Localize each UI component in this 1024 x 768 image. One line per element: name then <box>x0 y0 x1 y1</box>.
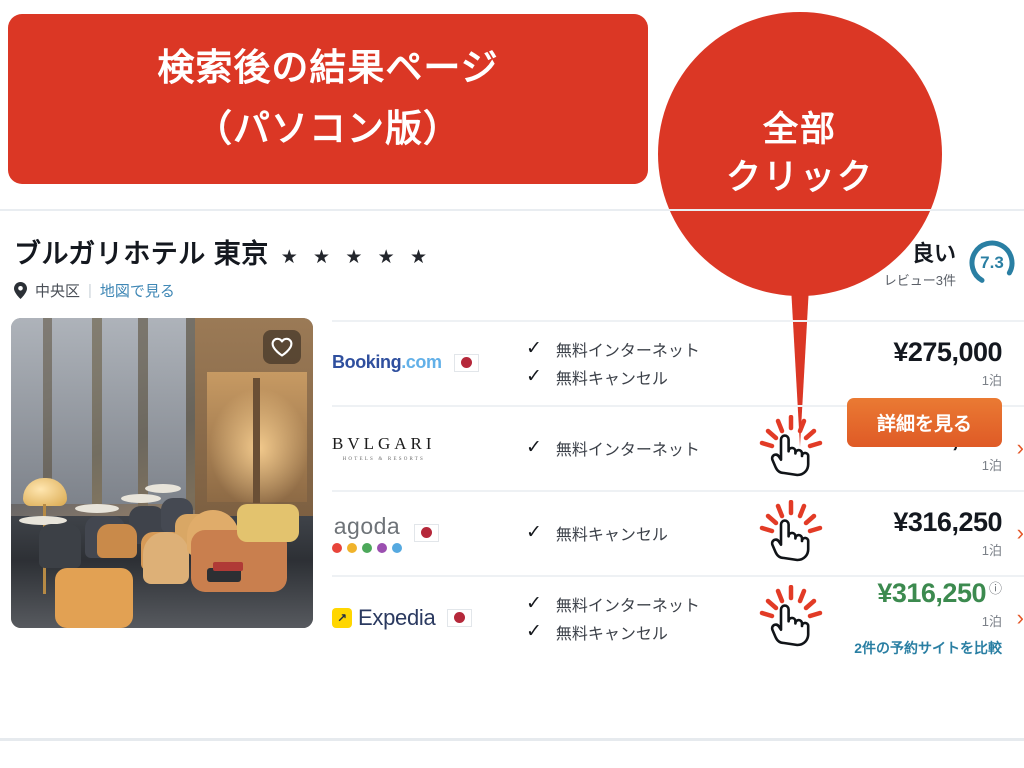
amenities-cell: ✓ 無料キャンセル <box>500 517 750 549</box>
bottom-divider <box>0 738 1024 741</box>
check-icon: ✓ <box>526 339 542 358</box>
price-value: ¥316,250 <box>877 578 986 609</box>
amenity-label: 無料キャンセル <box>556 365 668 389</box>
amenity-item: ✓ 無料インターネット <box>526 592 750 616</box>
page-title: ブルガリホテル 東京 <box>14 232 269 271</box>
hotel-area-label: 中央区 <box>35 280 80 301</box>
amenities-cell: ✓ 無料インターネット ✓ 無料キャンセル <box>500 333 750 393</box>
price-value: ¥275,000 <box>834 337 1002 368</box>
click-indicator-cell <box>750 490 834 575</box>
price-cell: ¥316,250 1泊 › <box>834 507 1024 559</box>
row-divider <box>332 320 1024 322</box>
per-night-label: 1泊 <box>834 370 1002 389</box>
check-icon: ✓ <box>526 367 542 386</box>
rating-block: 良い レビュー3件 7.3 <box>884 236 1016 289</box>
japan-flag-icon <box>414 524 439 542</box>
separator: | <box>88 282 92 299</box>
banner-line-1: 検索後の結果ページ <box>157 48 498 89</box>
price-value: ¥316,250 <box>834 507 1002 538</box>
chevron-right-icon[interactable]: › <box>1017 607 1024 629</box>
brand-cell: agoda <box>332 513 500 553</box>
amenity-item: ✓ 無料キャンセル <box>526 365 750 389</box>
amenities-cell: ✓ 無料インターネット <box>500 432 750 464</box>
hotel-location-row: 中央区 | 地図で見る <box>14 280 1014 301</box>
amenity-item: ✓ 無料キャンセル <box>526 620 750 644</box>
click-indicator-cell <box>750 405 834 490</box>
check-icon: ✓ <box>526 594 542 613</box>
expedia-arrow-icon: ↗ <box>332 608 352 628</box>
info-circle-icon[interactable]: ⓘ <box>989 578 1002 597</box>
offer-row[interactable]: Booking.com ✓ 無料インターネット ✓ 無料キャンセル ¥275,0… <box>332 320 1024 405</box>
price-cell: ¥316,250 ⓘ 1泊 2件の予約サイトを比較 › <box>834 578 1024 658</box>
price-cell: ¥275,000 1泊 <box>834 337 1024 389</box>
expedia-logo: ↗ Expedia <box>332 605 435 631</box>
banner-line-2: （パソコン版） <box>195 109 461 150</box>
amenities-cell: ✓ 無料インターネット ✓ 無料キャンセル <box>500 588 750 648</box>
callout-line-1: 全部 <box>763 110 837 150</box>
check-icon: ✓ <box>526 523 542 542</box>
offer-row[interactable]: ↗ Expedia ✓ 無料インターネット ✓ 無料キャンセル <box>332 575 1024 660</box>
hotel-photo[interactable] <box>11 318 313 628</box>
amenity-item: ✓ 無料キャンセル <box>526 521 750 545</box>
chevron-right-icon[interactable]: › <box>1017 522 1024 544</box>
heart-icon <box>271 337 293 357</box>
photo-scene <box>11 318 313 628</box>
pointing-hand-click-icon <box>758 585 824 651</box>
view-on-map-link[interactable]: 地図で見る <box>100 280 175 301</box>
bvlgari-tagline: HOTELS & RESORTS <box>343 457 425 462</box>
brand-cell: Booking.com <box>332 352 500 373</box>
click-indicator-cell <box>750 575 834 660</box>
expedia-wordmark: Expedia <box>358 605 435 631</box>
brand-cell: BVLGARI HOTELS & RESORTS <box>332 434 500 462</box>
pointing-hand-click-icon <box>758 415 824 481</box>
agoda-dots <box>332 543 402 553</box>
click-indicator-cell <box>750 320 834 405</box>
bvlgari-logo: BVLGARI HOTELS & RESORTS <box>332 434 436 462</box>
bvlgari-wordmark: BVLGARI <box>332 434 436 454</box>
star-rating-icons: ★ ★ ★ ★ ★ <box>281 246 432 269</box>
offer-list: Booking.com ✓ 無料インターネット ✓ 無料キャンセル ¥275,0… <box>332 320 1024 660</box>
callout-line-2: クリック <box>726 158 874 198</box>
brand-cell: ↗ Expedia <box>332 605 500 631</box>
view-details-button[interactable]: 詳細を見る <box>847 398 1002 447</box>
check-icon: ✓ <box>526 622 542 641</box>
row-divider <box>332 490 1024 492</box>
amenity-label: 無料キャンセル <box>556 521 668 545</box>
check-icon: ✓ <box>526 438 542 457</box>
booking-com-logo: Booking.com <box>332 352 442 373</box>
rating-score-ring: 7.3 <box>968 239 1016 287</box>
agoda-wordmark: agoda <box>334 513 400 540</box>
rating-text: 良い レビュー3件 <box>884 236 956 289</box>
amenity-label: 無料キャンセル <box>556 620 668 644</box>
offer-row[interactable]: agoda ✓ 無料キャンセル <box>332 490 1024 575</box>
top-divider <box>0 209 1024 211</box>
amenity-label: 無料インターネット <box>556 337 700 361</box>
compare-sites-link[interactable]: 2件の予約サイトを比較 <box>834 638 1002 658</box>
location-pin-icon <box>14 282 27 299</box>
hotel-title-row: ブルガリホテル 東京 ★ ★ ★ ★ ★ <box>14 232 1014 271</box>
hotel-header: ブルガリホテル 東京 ★ ★ ★ ★ ★ 中央区 | 地図で見る <box>14 232 1014 304</box>
pointing-hand-click-icon <box>758 500 824 566</box>
per-night-label: 1泊 <box>834 540 1002 559</box>
annotation-banner: 検索後の結果ページ （パソコン版） <box>8 14 648 184</box>
japan-flag-icon <box>454 354 479 372</box>
review-count: レビュー3件 <box>884 270 956 289</box>
amenity-label: 無料インターネット <box>556 436 700 460</box>
amenity-label: 無料インターネット <box>556 592 700 616</box>
amenity-item: ✓ 無料インターネット <box>526 436 750 460</box>
japan-flag-icon <box>447 609 472 627</box>
rating-word: 良い <box>884 236 956 268</box>
per-night-label: 1泊 <box>834 611 1002 630</box>
amenity-item: ✓ 無料インターネット <box>526 337 750 361</box>
rating-score-value: 7.3 <box>968 239 1016 287</box>
agoda-logo: agoda <box>332 513 402 553</box>
chevron-right-icon[interactable]: › <box>1017 437 1024 459</box>
per-night-label: 1泊 <box>834 455 1002 474</box>
favorite-heart-button[interactable] <box>263 330 301 364</box>
